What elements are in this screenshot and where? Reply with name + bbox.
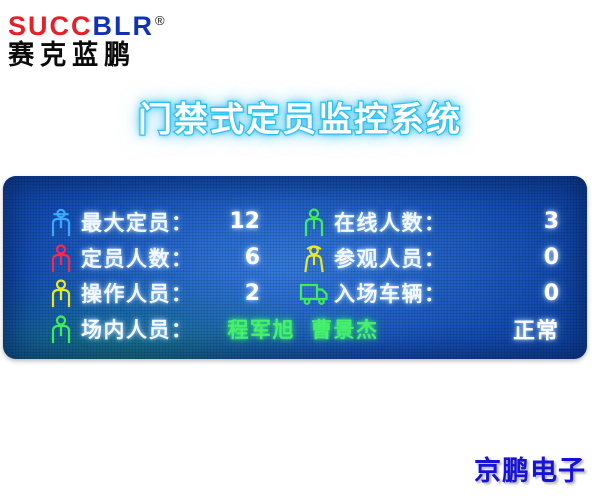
led-row-onsite-personnel: 场内人员： 程军旭 曹景杰 正常 [3,311,587,347]
led-display-panel: 最大定员： 12 在线人数： 3 [3,176,587,359]
led-row-max-capacity: 最大定员： 12 [3,204,288,240]
person-hat-icon [294,243,334,273]
person-icon-operator [41,278,81,308]
led-row-online-count: 在线人数： 3 [288,204,587,240]
logo-word-succ: SUCC [8,11,93,41]
person-cap-icon [41,207,81,237]
value-max-capacity: 12 [229,209,260,234]
status-badge: 正常 [513,313,559,345]
onsite-name-1: 程军旭 [228,314,296,344]
footer-brand: 京鹏电子 [474,449,586,488]
company-logo: SUCCBLR® 赛克蓝鹏 [8,6,218,70]
label-online-count: 在线人数： [334,207,447,237]
onsite-name-2: 曹景杰 [311,314,379,344]
led-top-spacer [3,176,288,204]
led-top-spacer-right [288,176,587,204]
label-staff-quota: 定员人数： [81,243,194,273]
truck-icon [294,280,334,306]
value-staff-quota: 6 [245,245,260,270]
onsite-names-list: 程军旭 曹景杰 [228,314,379,344]
registered-trademark-icon: ® [155,13,165,28]
person-icon-onsite [41,314,81,344]
page-title: 门禁式定员监控系统 [0,92,600,141]
logo-wordmark: SUCCBLR® [8,6,218,41]
label-operators: 操作人员： [81,278,194,308]
led-row-visitors: 参观人员： 0 [288,240,587,276]
value-operators: 2 [245,281,260,306]
led-content-grid: 最大定员： 12 在线人数： 3 [3,176,587,359]
logo-chinese-name: 赛克蓝鹏 [8,40,212,72]
label-max-capacity: 最大定员： [81,207,194,237]
led-row-vehicles: 入场车辆： 0 [288,276,587,312]
led-bottom-spacer-right [288,347,587,359]
person-icon-online [294,207,334,237]
person-icon-quota [41,243,81,273]
led-row-staff-quota: 定员人数： 6 [3,240,288,276]
value-vehicles: 0 [544,281,559,306]
label-vehicles: 入场车辆： [334,278,447,308]
value-online-count: 3 [544,209,559,234]
value-visitors: 0 [544,245,559,270]
label-visitors: 参观人员： [334,243,447,273]
led-row-operators: 操作人员： 2 [3,276,288,312]
led-bottom-spacer [3,347,288,359]
label-onsite-personnel: 场内人员： [81,314,194,344]
logo-word-blr: BLR [93,11,155,41]
